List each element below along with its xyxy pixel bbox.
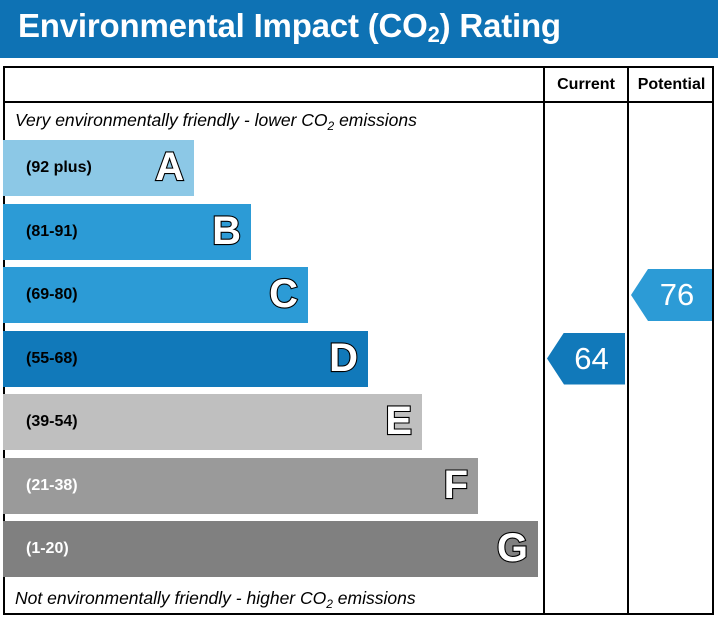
potential-rating-arrow: 76 [631,269,712,321]
caption-top: Very environmentally friendly - lower CO… [15,110,417,131]
band-letter-a: A [140,140,184,196]
rating-band-c: (69-80)C [3,267,308,323]
caption-bottom-subscript: 2 [326,597,333,611]
current-rating-value: 64 [564,333,619,385]
table-header-divider [3,101,714,103]
rating-band-g: (1-20)G [3,521,538,577]
page-title-suffix: ) Rating [440,7,561,44]
caption-bottom: Not environmentally friendly - higher CO… [15,588,416,609]
caption-bottom-suffix: emissions [333,588,416,608]
band-letter-c: C [254,267,298,323]
potential-rating-value: 76 [648,269,706,321]
caption-top-subscript: 2 [328,119,335,133]
environmental-impact-rating-chart: Environmental Impact (CO2) Rating Curren… [0,0,718,619]
rating-band-b: (81-91)B [3,204,251,260]
current-column-divider [543,66,545,615]
band-letter-b: B [197,204,241,260]
band-letter-e: E [368,394,412,450]
rating-band-f: (21-38)F [3,458,478,514]
band-range-label-g: (1-20) [26,521,69,577]
band-letter-g: G [484,521,528,577]
page-title-subscript: 2 [428,22,440,47]
caption-top-prefix: Very environmentally friendly - lower CO [15,110,328,130]
band-range-label-c: (69-80) [26,267,78,323]
caption-bottom-prefix: Not environmentally friendly - higher CO [15,588,326,608]
caption-top-suffix: emissions [334,110,417,130]
band-range-label-d: (55-68) [26,331,78,387]
rating-band-d: (55-68)D [3,331,368,387]
page-title-prefix: Environmental Impact (CO [18,7,428,44]
chart-title-bar: Environmental Impact (CO2) Rating [0,0,718,58]
potential-column-divider [627,66,629,615]
rating-band-a: (92 plus)A [3,140,194,196]
band-letter-d: D [314,331,358,387]
band-range-label-f: (21-38) [26,458,78,514]
band-letter-f: F [424,458,468,514]
column-header-potential: Potential [629,72,714,98]
band-range-label-b: (81-91) [26,204,78,260]
band-range-label-a: (92 plus) [26,140,92,196]
page-title: Environmental Impact (CO2) Rating [18,7,561,45]
band-range-label-e: (39-54) [26,394,78,450]
rating-band-e: (39-54)E [3,394,422,450]
column-header-current: Current [545,72,627,98]
